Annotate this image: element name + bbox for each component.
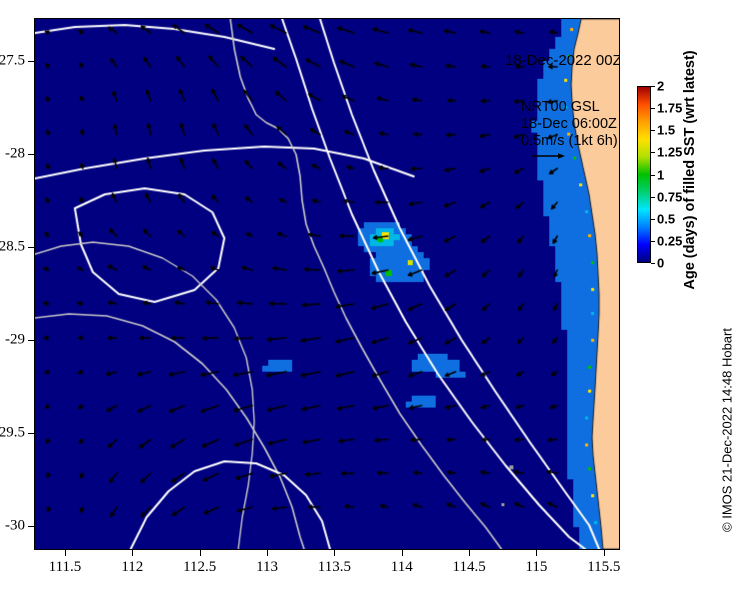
x-tick: [469, 550, 470, 556]
colorbar[interactable]: [637, 86, 651, 263]
y-tick: [28, 433, 34, 434]
x-tick: [536, 550, 537, 556]
colorbar-tick-label: 0.25: [657, 233, 682, 248]
colorbar-tick: [651, 197, 655, 198]
x-tick-label: 111.5: [49, 559, 82, 576]
figure-root: 18-Dec-2022 00Z NRT00 GSL 18-Dec 06:00Z …: [0, 0, 740, 592]
x-tick-label: 115: [525, 559, 547, 576]
x-tick: [402, 550, 403, 556]
y-tick: [28, 247, 34, 248]
y-tick: [28, 340, 34, 341]
y-tick-label: -29: [5, 331, 25, 348]
colorbar-tick: [651, 175, 655, 176]
date-stamp-label: 18-Dec-2022 00Z: [505, 52, 620, 69]
colorbar-tick-label: 1.25: [657, 145, 682, 160]
gsl-time-label: 18-Dec 06:00Z: [521, 116, 618, 133]
colorbar-tick: [651, 130, 655, 131]
colorbar-tick: [651, 86, 655, 87]
y-tick-label: -28: [5, 145, 25, 162]
x-tick-label: 112: [121, 559, 143, 576]
y-tick: [28, 154, 34, 155]
colorbar-tick-label: 2: [657, 79, 664, 94]
x-tick: [200, 550, 201, 556]
x-tick: [267, 550, 268, 556]
y-tick-label: -30: [5, 517, 25, 534]
colorbar-tick-label: 0: [657, 256, 664, 271]
y-tick: [28, 61, 34, 62]
gsl-product-label: NRT00 GSL: [521, 99, 618, 116]
x-tick-label: 113: [256, 559, 278, 576]
y-tick: [28, 526, 34, 527]
colorbar-tick-label: 1.5: [657, 123, 675, 138]
y-tick-label: -29.5: [0, 424, 25, 441]
x-tick-label: 112.5: [183, 559, 216, 576]
colorbar-tick-label: 0.5: [657, 211, 675, 226]
colorbar-tick-label: 1.75: [657, 101, 682, 116]
colorbar-title: Age (days) of filled SST (wrt latest): [682, 50, 698, 289]
colorbar-tick: [651, 108, 655, 109]
map-plot-area[interactable]: 18-Dec-2022 00Z NRT00 GSL 18-Dec 06:00Z …: [34, 18, 620, 550]
colorbar-tick: [651, 263, 655, 264]
credit-label: © IMOS 21-Dec-2022 14:48 Hobart: [720, 328, 735, 532]
x-tick: [132, 550, 133, 556]
x-tick-label: 115.5: [587, 559, 620, 576]
velocity-scale-arrow-icon: [531, 151, 565, 161]
y-tick-label: -27.5: [0, 52, 25, 69]
colorbar-tick: [651, 152, 655, 153]
x-tick-label: 114: [391, 559, 413, 576]
colorbar-tick-label: 1: [657, 167, 664, 182]
y-tick-label: -28.5: [0, 238, 25, 255]
colorbar-tick: [651, 241, 655, 242]
x-tick: [65, 550, 66, 556]
x-tick-label: 114.5: [453, 559, 486, 576]
colorbar-tick: [651, 219, 655, 220]
x-tick: [334, 550, 335, 556]
colorbar-tick-label: 0.75: [657, 189, 682, 204]
x-tick-label: 113.5: [318, 559, 351, 576]
gsl-scale-label: 0.5m/s (1kt 6h): [521, 133, 618, 150]
x-tick: [604, 550, 605, 556]
current-vector-legend: NRT00 GSL 18-Dec 06:00Z 0.5m/s (1kt 6h): [521, 99, 618, 150]
